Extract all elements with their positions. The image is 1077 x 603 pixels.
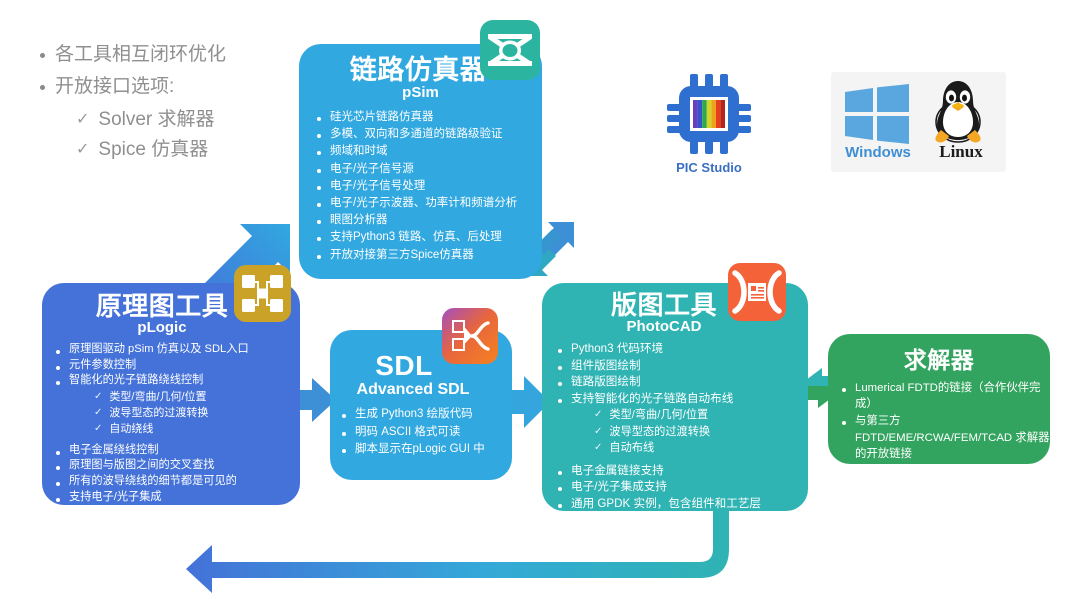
check-icon: ✓ xyxy=(594,407,602,423)
psim-bullet-5: 电子/光子信号处理 xyxy=(330,178,542,194)
card-solver[interactable]: 求解器 Lumerical FDTD的链接（合作伙伴完成） 与第三方 FDTD/… xyxy=(828,334,1050,464)
plogic-bullet-6: 所有的波导绕线的细节都是可见的 xyxy=(69,474,300,490)
card-plogic[interactable]: 原理图工具 pLogic 原理图驱动 pSim 仿真以及 SDL入口 元件参数控… xyxy=(42,283,300,505)
photocad-bullet-3: 链路版图绘制 xyxy=(571,374,808,391)
list-item: 支持Python3 链路、仿真、后处理 xyxy=(313,229,542,245)
list-item: 原理图与版图之间的交叉查找 xyxy=(52,458,300,474)
list-item: 元件参数控制 xyxy=(52,358,300,374)
intro-bullet-1: 各工具相互闭环优化 xyxy=(55,42,226,67)
list-item: Lumerical FDTD的链接（合作伙伴完成） xyxy=(838,380,1050,412)
solver-title: 求解器 xyxy=(828,347,1050,373)
list-item: 支持电子/光子集成 xyxy=(52,490,300,506)
photocad-bullet-2: 组件版图绘制 xyxy=(571,358,808,375)
psim-eye-diagram-icon xyxy=(480,20,540,80)
check-icon: ✓ xyxy=(76,139,89,159)
check-icon: ✓ xyxy=(94,389,102,405)
sdl-bullet-2: 明码 ASCII 格式可读 xyxy=(355,424,512,442)
plogic-bullet-1: 原理图驱动 pSim 仿真以及 SDL入口 xyxy=(69,342,300,358)
list-item: ✓类型/弯曲/几何/位置 xyxy=(94,389,300,405)
list-item: 频域和时域 xyxy=(313,143,542,159)
windows-label: Windows xyxy=(836,144,920,161)
psim-feature-list: 硅光芯片链路仿真器 多模、双向和多通道的链路级验证 频域和时域 电子/光子信号源… xyxy=(313,109,542,263)
psim-bullet-9: 开放对接第三方Spice仿真器 xyxy=(330,247,542,263)
linux-label: Linux xyxy=(921,142,1001,162)
psim-bullet-3: 频域和时域 xyxy=(330,143,542,159)
sdl-subtitle: Advanced SDL xyxy=(330,381,512,399)
photocad-sub-list: ✓类型/弯曲/几何/位置 ✓波导型态的过渡转换 ✓自动布线 xyxy=(594,407,808,456)
list-item: 链路版图绘制 xyxy=(554,374,808,391)
diagram-canvas: 各工具相互闭环优化 开放接口选项: ✓ Solver 求解器 ✓ Spice 仿… xyxy=(0,0,1077,603)
list-item: 电子/光子信号处理 xyxy=(313,178,542,194)
list-item: ✓波导型态的过渡转换 xyxy=(94,405,300,421)
psim-bullet-7: 眼图分析器 xyxy=(330,212,542,228)
list-item: 与第三方 FDTD/EME/RCWA/FEM/TCAD 求解器的开放链接 xyxy=(838,413,1050,462)
sdl-bullet-3: 脚本显示在pLogic GUI 中 xyxy=(355,441,512,459)
pic-chip-icon xyxy=(655,72,763,156)
psim-subtitle: pSim xyxy=(299,84,542,101)
photocad-sub-2: 波导型态的过渡转换 xyxy=(609,424,808,440)
list-item: 多模、双向和多通道的链路级验证 xyxy=(313,126,542,142)
plogic-feature-list-top: 原理图驱动 pSim 仿真以及 SDL入口 元件参数控制 智能化的光子链路绕线控… xyxy=(52,342,300,389)
list-item: 电子/光子示波器、功率计和频谱分析 xyxy=(313,195,542,211)
photocad-bullet-4: 支持智能化的光子链路自动布线 xyxy=(571,391,808,408)
intro-sub-bullet-1: Solver 求解器 xyxy=(98,106,214,133)
list-item: 各工具相互闭环优化 xyxy=(30,42,300,67)
plogic-sub-2: 波导型态的过渡转换 xyxy=(109,405,300,421)
solver-feature-list: Lumerical FDTD的链接（合作伙伴完成） 与第三方 FDTD/EME/… xyxy=(838,380,1050,462)
solver-bullet-2: 与第三方 FDTD/EME/RCWA/FEM/TCAD 求解器的开放链接 xyxy=(855,413,1050,462)
plogic-feature-list-bottom: 电子金属绕线控制 原理图与版图之间的交叉查找 所有的波导绕线的细节都是可见的 支… xyxy=(52,443,300,505)
plogic-bullet-7: 支持电子/光子集成 xyxy=(69,490,300,506)
intro-bullet-list: 各工具相互闭环优化 开放接口选项: ✓ Solver 求解器 ✓ Spice 仿… xyxy=(30,42,300,163)
list-item: 原理图驱动 pSim 仿真以及 SDL入口 xyxy=(52,342,300,358)
photocad-bullet-1: Python3 代码环境 xyxy=(571,341,808,358)
pic-studio-logo: PIC Studio xyxy=(655,72,763,175)
card-photocad[interactable]: 版图工具 PhotoCAD Python3 代码环境 组件版图绘制 链路版图绘制… xyxy=(542,283,808,511)
windows-logo-icon xyxy=(845,84,909,144)
psim-bullet-8: 支持Python3 链路、仿真、后处理 xyxy=(330,229,542,245)
list-item: 开放接口选项: xyxy=(30,74,300,99)
psim-bullet-2: 多模、双向和多通道的链路级验证 xyxy=(330,126,542,142)
list-item: 生成 Python3 绘版代码 xyxy=(338,406,512,424)
check-icon: ✓ xyxy=(76,109,89,129)
arrow-feedback-photocad-to-plogic xyxy=(186,505,729,593)
plogic-bullet-4: 电子金属绕线控制 xyxy=(69,443,300,459)
intro-bullet-2: 开放接口选项: xyxy=(55,74,174,99)
list-item: ✓自动绕线 xyxy=(94,421,300,437)
list-item: 通用 GPDK 实例，包含组件和工艺层 xyxy=(554,496,808,513)
sdl-feature-list: 生成 Python3 绘版代码 明码 ASCII 格式可读 脚本显示在pLogi… xyxy=(338,406,512,459)
sdl-netlist-icon xyxy=(442,308,498,364)
plogic-schematic-icon xyxy=(234,265,291,322)
list-item: ✓波导型态的过渡转换 xyxy=(594,424,808,440)
list-item: 明码 ASCII 格式可读 xyxy=(338,424,512,442)
list-item: 开放对接第三方Spice仿真器 xyxy=(313,247,542,263)
sdl-bullet-1: 生成 Python3 绘版代码 xyxy=(355,406,512,424)
list-item: 电子/光子信号源 xyxy=(313,161,542,177)
pic-studio-label: PIC Studio xyxy=(655,160,763,175)
photocad-layout-icon xyxy=(728,263,786,321)
plogic-bullet-3: 智能化的光子链路绕线控制 xyxy=(69,373,300,389)
list-item: 电子金属绕线控制 xyxy=(52,443,300,459)
psim-bullet-1: 硅光芯片链路仿真器 xyxy=(330,109,542,125)
list-item: 电子金属链接支持 xyxy=(554,463,808,480)
plogic-sub-3: 自动绕线 xyxy=(109,421,300,437)
bullet-dot-icon xyxy=(40,85,45,90)
psim-bullet-4: 电子/光子信号源 xyxy=(330,161,542,177)
photocad-feature-list-bottom: 电子金属链接支持 电子/光子集成支持 通用 GPDK 实例，包含组件和工艺层 xyxy=(554,463,808,513)
list-item: 组件版图绘制 xyxy=(554,358,808,375)
check-icon: ✓ xyxy=(94,405,102,421)
check-icon: ✓ xyxy=(594,440,602,456)
list-item: 支持智能化的光子链路自动布线 xyxy=(554,391,808,408)
os-support-logos: Windows Linux xyxy=(831,72,1006,172)
plogic-sub-1: 类型/弯曲/几何/位置 xyxy=(109,389,300,405)
photocad-bullet-6: 电子/光子集成支持 xyxy=(571,479,808,496)
card-psim[interactable]: 链路仿真器 pSim 硅光芯片链路仿真器 多模、双向和多通道的链路级验证 频域和… xyxy=(299,44,542,279)
plogic-sub-list: ✓类型/弯曲/几何/位置 ✓波导型态的过渡转换 ✓自动绕线 xyxy=(94,389,300,437)
plogic-bullet-2: 元件参数控制 xyxy=(69,358,300,374)
linux-penguin-icon xyxy=(927,78,989,144)
list-item: ✓ Spice 仿真器 xyxy=(76,136,300,163)
photocad-bullet-5: 电子金属链接支持 xyxy=(571,463,808,480)
list-item: ✓类型/弯曲/几何/位置 xyxy=(594,407,808,423)
list-item: ✓自动布线 xyxy=(594,440,808,456)
list-item: 电子/光子集成支持 xyxy=(554,479,808,496)
photocad-feature-list-top: Python3 代码环境 组件版图绘制 链路版图绘制 支持智能化的光子链路自动布… xyxy=(554,341,808,407)
photocad-sub-3: 自动布线 xyxy=(609,440,808,456)
list-item: 眼图分析器 xyxy=(313,212,542,228)
list-item: 所有的波导绕线的细节都是可见的 xyxy=(52,474,300,490)
card-sdl[interactable]: SDL Advanced SDL 生成 Python3 绘版代码 明码 ASCI… xyxy=(330,330,512,480)
solver-bullet-1: Lumerical FDTD的链接（合作伙伴完成） xyxy=(855,380,1050,412)
check-icon: ✓ xyxy=(594,424,602,440)
photocad-bullet-7: 通用 GPDK 实例，包含组件和工艺层 xyxy=(571,496,808,513)
list-item: 硅光芯片链路仿真器 xyxy=(313,109,542,125)
list-item: ✓ Solver 求解器 xyxy=(76,106,300,133)
list-item: Python3 代码环境 xyxy=(554,341,808,358)
plogic-bullet-5: 原理图与版图之间的交叉查找 xyxy=(69,458,300,474)
intro-sub-bullet-2: Spice 仿真器 xyxy=(98,136,208,163)
check-icon: ✓ xyxy=(94,421,102,437)
bullet-dot-icon xyxy=(40,53,45,58)
photocad-sub-1: 类型/弯曲/几何/位置 xyxy=(609,407,808,423)
psim-bullet-6: 电子/光子示波器、功率计和频谱分析 xyxy=(330,195,542,211)
list-item: 智能化的光子链路绕线控制 xyxy=(52,373,300,389)
list-item: 脚本显示在pLogic GUI 中 xyxy=(338,441,512,459)
